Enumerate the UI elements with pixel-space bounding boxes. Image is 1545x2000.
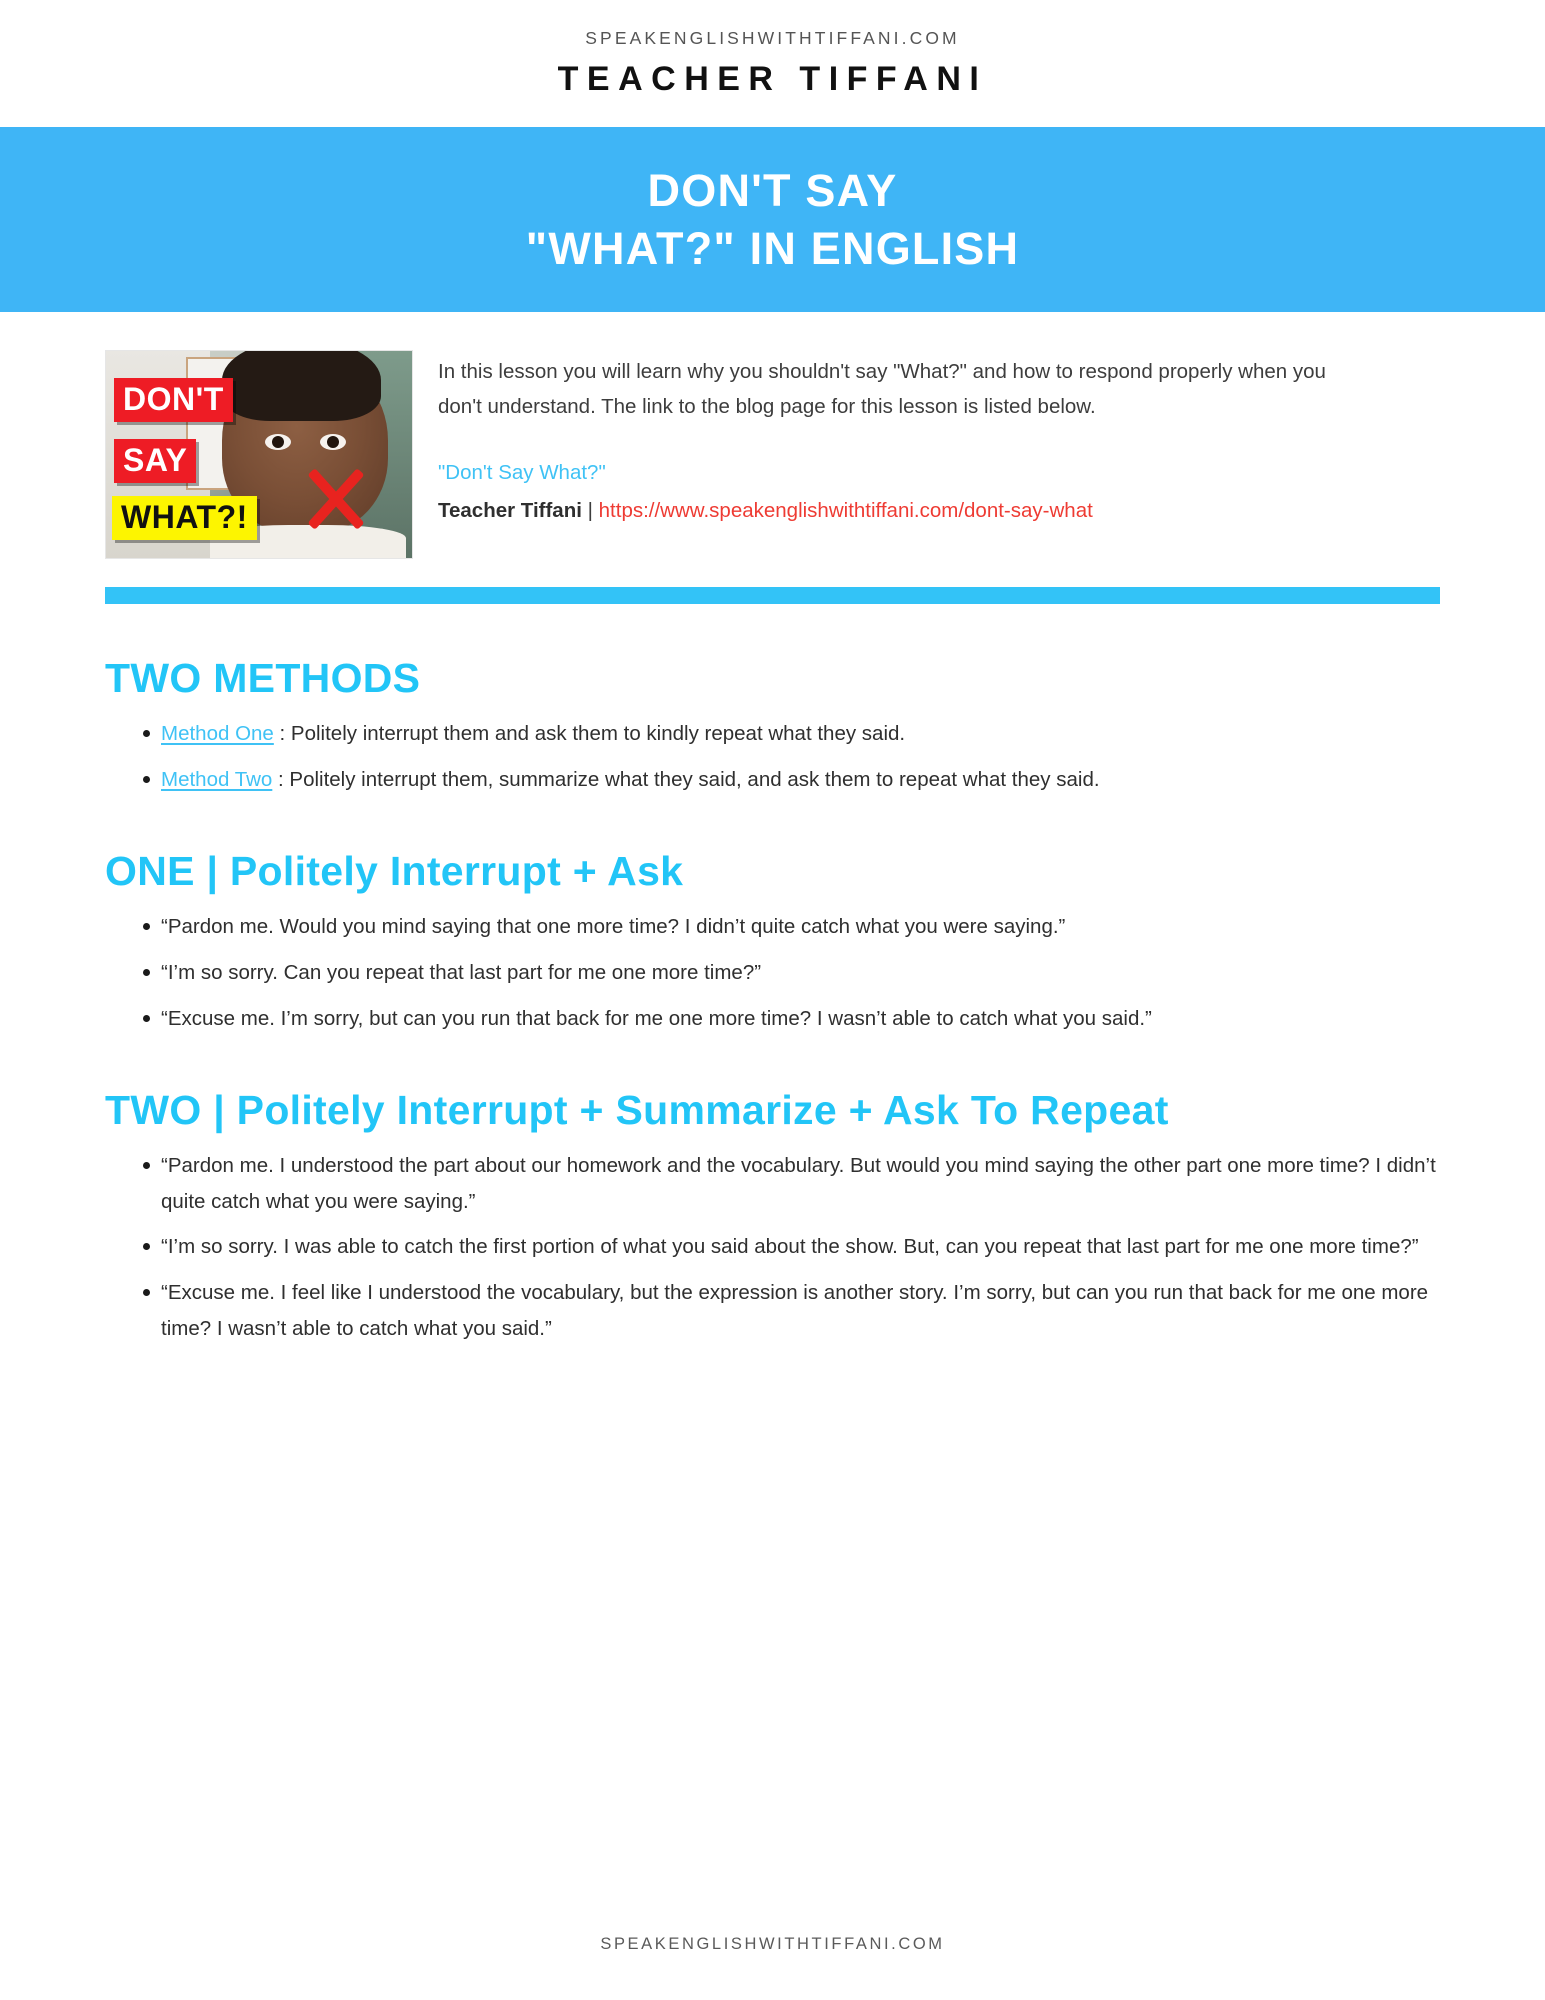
method-two-phrases: “Pardon me. I understood the part about … xyxy=(105,1148,1445,1346)
section-two-methods: TWO METHODS Method One : Politely interr… xyxy=(105,656,1445,797)
thumbnail-tag-what: WHAT?! xyxy=(112,496,257,540)
blue-divider-rule xyxy=(105,587,1440,604)
section-heading-one: ONE | Politely Interrupt + Ask xyxy=(105,849,1445,895)
page-footer: SPEAKENGLISHWITHTIFFANI.COM xyxy=(0,1935,1545,1954)
title-line-1: DON'T SAY xyxy=(648,162,898,220)
footer-site-url: SPEAKENGLISHWITHTIFFANI.COM xyxy=(600,1935,944,1953)
thumbnail-hair xyxy=(222,350,381,421)
lesson-text-block: In this lesson you will learn why you sh… xyxy=(438,350,1445,559)
methods-list: Method One : Politely interrupt them and… xyxy=(105,716,1445,797)
worksheet-content: TWO METHODS Method One : Politely interr… xyxy=(105,656,1445,1346)
lesson-summary-row: DON'T SAY WHAT?! In this lesson you will… xyxy=(105,350,1445,559)
title-banner: DON'T SAY "WHAT?" IN ENGLISH xyxy=(0,127,1545,312)
section-method-two: TWO | Politely Interrupt + Summarize + A… xyxy=(105,1088,1445,1346)
thumbnail-tag-dont: DON'T xyxy=(114,378,233,422)
list-item: “Pardon me. I understood the part about … xyxy=(143,1148,1445,1219)
section-method-one: ONE | Politely Interrupt + Ask “Pardon m… xyxy=(105,849,1445,1036)
method-one-text: : Politely interrupt them and ask them t… xyxy=(274,722,905,745)
list-item: “Excuse me. I’m sorry, but can you run t… xyxy=(143,1001,1445,1037)
list-item: “I’m so sorry. Can you repeat that last … xyxy=(143,955,1445,991)
list-item: “I’m so sorry. I was able to catch the f… xyxy=(143,1229,1445,1265)
list-item: Method Two : Politely interrupt them, su… xyxy=(143,762,1445,798)
brand-name: TEACHER TIFFANI xyxy=(0,60,1545,99)
video-thumbnail[interactable]: DON'T SAY WHAT?! xyxy=(105,350,413,559)
credit-separator: | xyxy=(588,499,593,522)
list-item: “Excuse me. I feel like I understood the… xyxy=(143,1275,1445,1346)
method-two-link[interactable]: Method Two xyxy=(161,768,272,791)
method-one-link[interactable]: Method One xyxy=(161,722,274,745)
lesson-url-link[interactable]: https://www.speakenglishwithtiffani.com/… xyxy=(599,499,1093,522)
section-heading-methods: TWO METHODS xyxy=(105,656,1445,702)
brand-site-url: SPEAKENGLISHWITHTIFFANI.COM xyxy=(0,28,1545,49)
thumbnail-tag-say: SAY xyxy=(114,439,196,483)
brand-header: SPEAKENGLISHWITHTIFFANI.COM TEACHER TIFF… xyxy=(0,0,1545,99)
lesson-author: Teacher Tiffani xyxy=(438,499,582,522)
method-one-phrases: “Pardon me. Would you mind saying that o… xyxy=(105,909,1445,1036)
red-x-icon xyxy=(294,462,368,536)
lesson-video-title[interactable]: "Don't Say What?" xyxy=(438,457,1445,490)
method-two-text: : Politely interrupt them, summarize wha… xyxy=(272,768,1099,791)
section-heading-two: TWO | Politely Interrupt + Summarize + A… xyxy=(105,1088,1445,1134)
thumbnail-eye-left xyxy=(265,434,291,450)
list-item: Method One : Politely interrupt them and… xyxy=(143,716,1445,752)
lesson-description: In this lesson you will learn why you sh… xyxy=(438,354,1338,425)
title-line-2: "WHAT?" IN ENGLISH xyxy=(526,220,1019,278)
thumbnail-eye-right xyxy=(320,434,346,450)
list-item: “Pardon me. Would you mind saying that o… xyxy=(143,909,1445,945)
lesson-credit-line: Teacher Tiffani | https://www.speakengli… xyxy=(438,495,1445,528)
